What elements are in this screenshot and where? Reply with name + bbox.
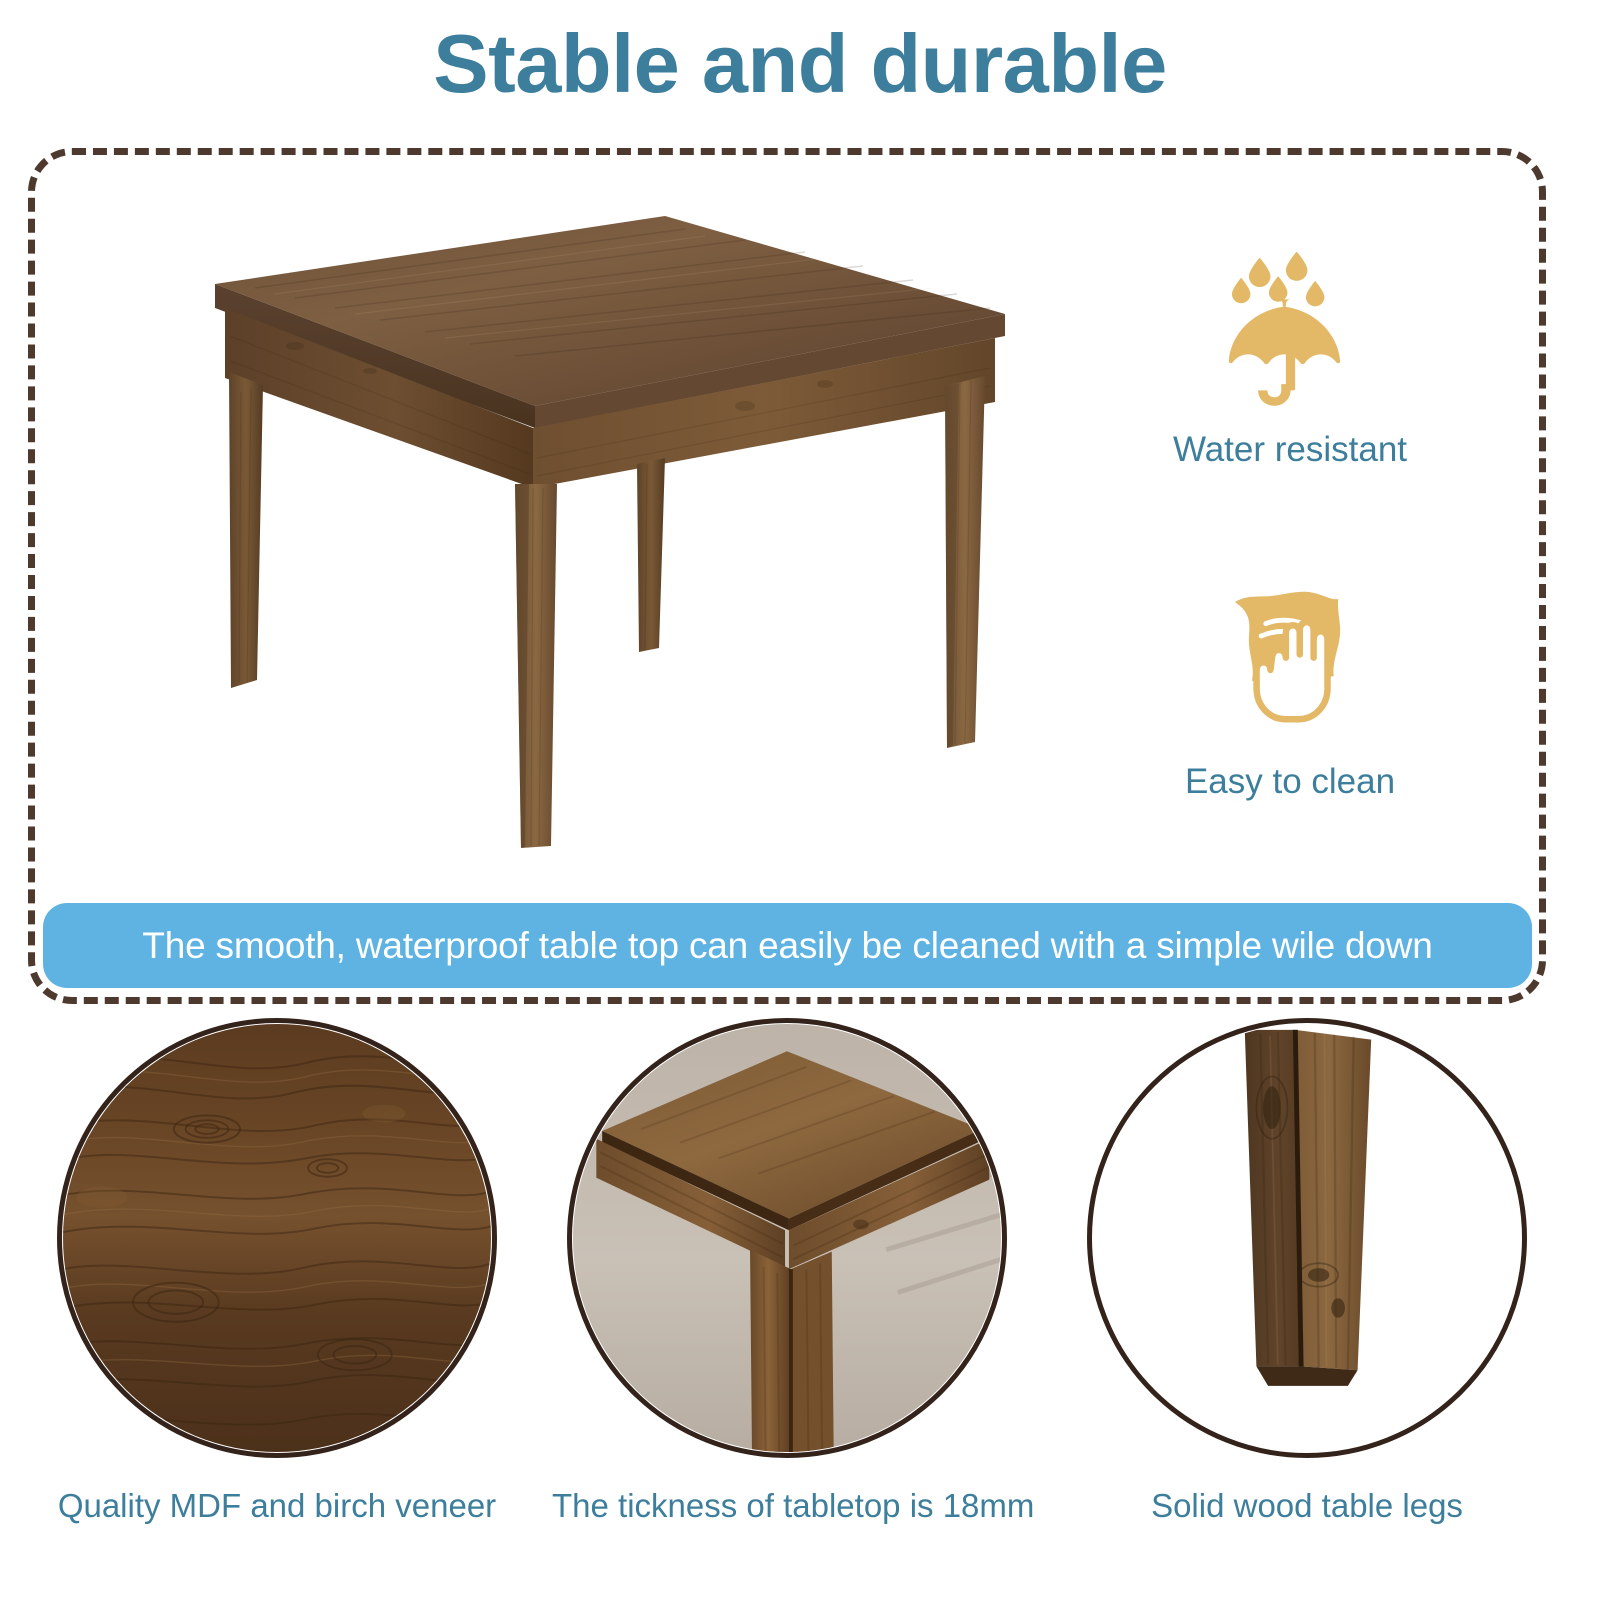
waterproof-banner: The smooth, waterproof table top can eas… — [43, 903, 1532, 988]
feature-easy-to-clean: Easy to clean — [1090, 562, 1490, 802]
banner-text: The smooth, waterproof table top can eas… — [142, 927, 1432, 964]
detail-circle-row: Quality MDF and birch veneer — [0, 1018, 1600, 1578]
page-title: Stable and durable — [0, 22, 1600, 105]
umbrella-raindrops-icon — [1198, 230, 1383, 415]
feature-label: Water resistant — [1090, 431, 1490, 470]
feature-label: Easy to clean — [1090, 763, 1490, 802]
infographic-page: Stable and durable — [0, 0, 1600, 1600]
feature-icon-list: Water resistant Easy to clean — [1090, 230, 1490, 801]
hero-table-image — [185, 196, 1025, 856]
hand-wiping-cloth-icon — [1198, 562, 1383, 747]
detail-table-leg: Solid wood table legs — [1072, 1018, 1542, 1578]
detail-caption: Quality MDF and birch veneer — [42, 1486, 512, 1526]
table-leg-closeup-photo — [1093, 1024, 1521, 1452]
circle-frame — [1087, 1018, 1527, 1458]
feature-water-resistant: Water resistant — [1090, 230, 1490, 470]
detail-caption: Solid wood table legs — [1072, 1486, 1542, 1526]
table-corner-closeup-photo — [573, 1024, 1001, 1452]
detail-wood-grain: Quality MDF and birch veneer — [42, 1018, 512, 1578]
circle-frame — [567, 1018, 1007, 1458]
detail-table-corner: The tickness of tabletop is 18mm — [552, 1018, 1022, 1578]
wood-grain-closeup-photo — [63, 1024, 491, 1452]
circle-frame — [57, 1018, 497, 1458]
detail-caption: The tickness of tabletop is 18mm — [552, 1486, 1022, 1526]
